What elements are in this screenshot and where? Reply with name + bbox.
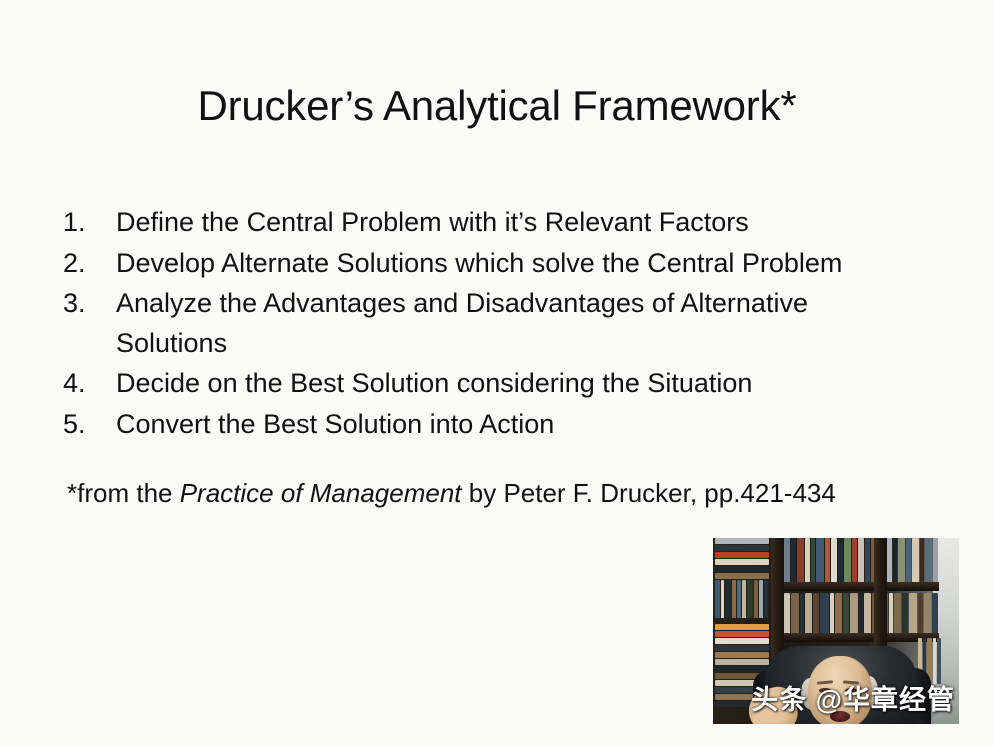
source-footnote: *from the Practice of Management by Pete… (67, 476, 836, 510)
list-item: 4. Decide on the Best Solution consideri… (63, 364, 923, 404)
list-item-label: Decide on the Best Solution considering … (116, 364, 923, 404)
stacked-book (715, 552, 769, 558)
stacked-book (715, 538, 769, 544)
numbered-list: 1. Define the Central Problem with it’s … (63, 203, 923, 445)
person-mouth (830, 711, 850, 722)
person-nose (835, 695, 843, 708)
footnote-suffix: by Peter F. Drucker, pp.421-434 (462, 478, 836, 508)
shelf-board (771, 582, 939, 591)
list-item-number: 2. (63, 244, 116, 284)
bookshelf-row-middle (784, 593, 939, 633)
list-item-number: 5. (63, 405, 116, 445)
stacked-book (715, 638, 769, 644)
list-item-label: Develop Alternate Solutions which solve … (116, 244, 923, 284)
stacked-book (715, 566, 769, 572)
stacked-book (715, 559, 769, 565)
list-item-label: Convert the Best Solution into Action (116, 405, 923, 445)
list-item: 2. Develop Alternate Solutions which sol… (63, 244, 923, 284)
list-item-number: 4. (63, 364, 116, 404)
stacked-book (715, 652, 769, 658)
shelf-board (771, 633, 939, 642)
bookshelf-left-upper (715, 580, 769, 618)
list-item-label: Analyze the Advantages and Disadvantages… (116, 284, 923, 363)
stacked-book (715, 659, 769, 665)
list-item-label: Define the Central Problem with it’s Rel… (116, 203, 923, 243)
stacked-book (715, 573, 769, 579)
stacked-book (715, 545, 769, 551)
list-item: 3. Analyze the Advantages and Disadvanta… (63, 284, 923, 363)
webcam-video-overlay[interactable] (713, 538, 959, 724)
bookshelf-row-top (784, 538, 939, 582)
list-item: 5. Convert the Best Solution into Action (63, 405, 923, 445)
footnote-prefix: *from the (67, 478, 180, 508)
stacked-book (715, 624, 769, 630)
page-title: Drucker’s Analytical Framework* (0, 84, 994, 128)
stacked-book (715, 631, 769, 637)
person-eye (845, 688, 857, 693)
list-item: 1. Define the Central Problem with it’s … (63, 203, 923, 243)
list-item-number: 1. (63, 203, 116, 243)
stacked-book (715, 645, 769, 651)
presentation-slide: Drucker’s Analytical Framework* 1. Defin… (0, 0, 994, 746)
footnote-book-title: Practice of Management (180, 478, 462, 508)
person-eye (819, 688, 831, 693)
list-item-number: 3. (63, 284, 116, 324)
